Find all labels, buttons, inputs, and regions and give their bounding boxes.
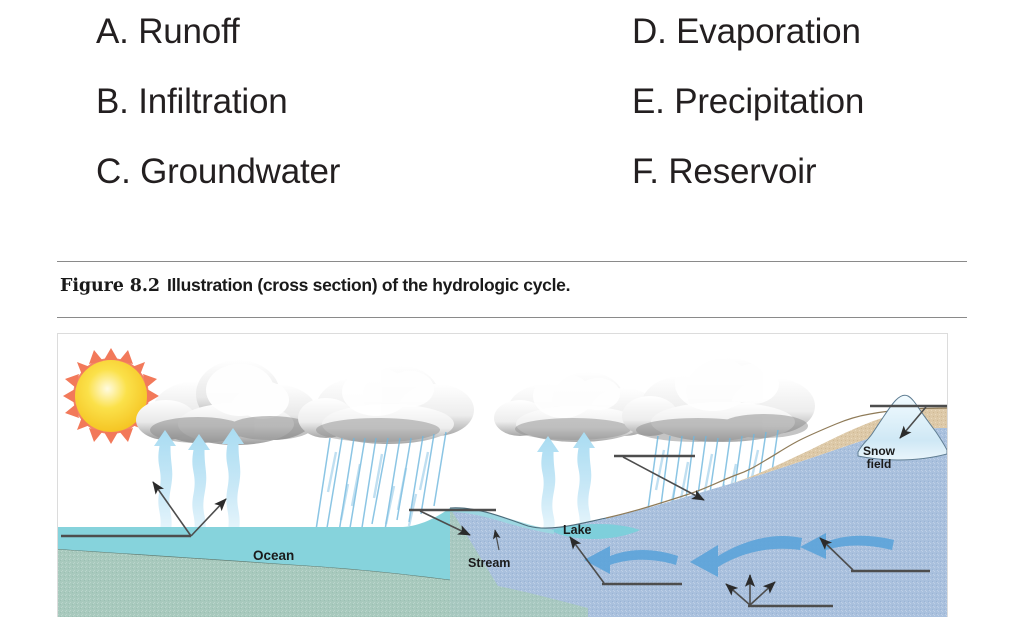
figure-caption: Figure 8.2Illustration (cross section) o…: [60, 275, 570, 296]
choice-e: E. Precipitation: [632, 84, 864, 119]
choice-c: C. Groundwater: [96, 154, 340, 189]
choice-a: A. Runoff: [96, 14, 340, 49]
label-ocean: Ocean: [253, 549, 294, 563]
hydrologic-cycle-illustration: Ocean Stream Lake Snow field: [57, 333, 948, 617]
label-stream: Stream: [468, 557, 510, 570]
page-root: A. Runoff B. Infiltration C. Groundwater…: [0, 0, 1024, 617]
illustration-canvas: Ocean Stream Lake Snow field: [58, 334, 947, 617]
answer-choices: A. Runoff B. Infiltration C. Groundwater…: [0, 0, 1024, 230]
illustration-svg: [58, 334, 947, 617]
choice-b: B. Infiltration: [96, 84, 340, 119]
label-snow-field: Snow field: [863, 445, 895, 470]
label-lake: Lake: [563, 524, 592, 537]
answer-choices-right-column: D. Evaporation E. Precipitation F. Reser…: [632, 14, 864, 224]
caption-rule-top: [57, 261, 967, 262]
choice-d: D. Evaporation: [632, 14, 864, 49]
figure-number: Figure 8.2: [60, 276, 160, 296]
figure-caption-text: Illustration (cross section) of the hydr…: [167, 275, 570, 295]
label-snow-field-line1: Snow: [863, 445, 895, 458]
answer-choices-left-column: A. Runoff B. Infiltration C. Groundwater: [96, 14, 340, 224]
caption-rule-bottom: [57, 317, 967, 318]
choice-f: F. Reservoir: [632, 154, 864, 189]
label-snow-field-line2: field: [863, 458, 895, 471]
evaporation-arrows-ocean: [154, 428, 244, 536]
